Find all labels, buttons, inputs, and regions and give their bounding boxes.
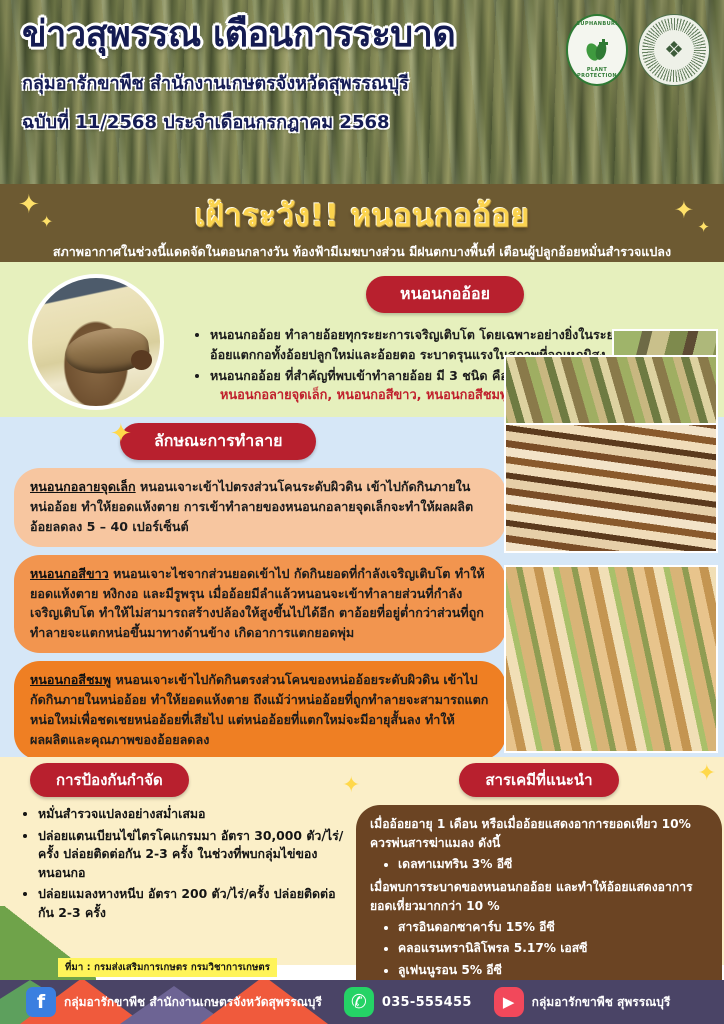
- chemicals-intro-1: เมื่ออ้อยอายุ 1 เดือน หรือเมื่ออ้อยแสดงอ…: [370, 815, 708, 853]
- chemicals-badge-wrap: สารเคมีที่แนะนำ: [356, 763, 722, 797]
- damage-box-small-spotted: หนอนกอลายจุดเล็ก หนอนเจาะเข้าไปตรงส่วนโค…: [14, 468, 506, 547]
- source-citation: ที่มา : กรมส่งเสริมการเกษตร กรมวิชาการเก…: [58, 958, 277, 977]
- damage-term: หนอนกอสีขาว: [30, 566, 109, 581]
- chemicals-column: ✦ ✦ สารเคมีที่แนะนำ เมื่ออ้อยอายุ 1 เดือ…: [356, 763, 722, 1015]
- alert-banner: ✦ ✦ ✦ ✦ เฝ้าระวัง!! หนอนกออ้อย สภาพอากาศ…: [0, 184, 724, 262]
- leaf-cross-icon: [582, 35, 612, 65]
- damage-box-white-borer: หนอนกอสีขาว หนอนเจาะไชจากส่วนยอดเข้าไป ก…: [14, 555, 506, 654]
- sparkle-icon: ✦: [674, 198, 694, 222]
- list-item: สารอินดอกซาคาร์บ 15% อีซี: [398, 918, 708, 937]
- youtube-icon[interactable]: ▶: [494, 987, 524, 1017]
- garuda-seal-logo-icon: ❖: [638, 14, 710, 86]
- sparkle-icon: ✦: [697, 220, 710, 235]
- damage-section: ✦ ลักษณะการทำลาย หนอนกอลายจุดเล็ก หนอนเจ…: [0, 417, 724, 757]
- logo-group: SUPHANBURI PLANT PROTECTION ❖: [566, 14, 710, 86]
- header-subtitle: กลุ่มอารักขาพืช สำนักงานเกษตรจังหวัดสุพร…: [22, 68, 455, 97]
- list-item: คลอแรนทรานิลิโพรล 5.17% เอสซี: [398, 939, 708, 958]
- pest-name-badge: หนอนกออ้อย: [366, 276, 524, 313]
- damage-section-badge: ลักษณะการทำลาย: [120, 423, 316, 460]
- weather-advisory-text: สภาพอากาศในช่วงนี้แดดจัดในตอนกลางวัน ท้อ…: [0, 242, 724, 262]
- list-item: หมั่นสำรวจแปลงอย่างสม่ำเสมอ: [38, 805, 346, 824]
- prevention-badge-wrap: การป้องกันกำจัด: [0, 763, 352, 797]
- list-item: เดลทาเมทริน 3% อีซี: [398, 855, 708, 874]
- phone-number: 035-555455: [382, 995, 472, 1010]
- sparkle-icon: ✦: [18, 192, 40, 218]
- prevention-list: หมั่นสำรวจแปลงอย่างสม่ำเสมอ ปล่อยแตนเบีย…: [24, 805, 346, 923]
- bottom-section: การป้องกันกำจัด หมั่นสำรวจแปลงอย่างสม่ำเ…: [0, 757, 724, 965]
- list-item-label: หนอนกออ้อย ที่สำคัญที่พบเข้าทำลายอ้อย มี…: [210, 368, 508, 383]
- sparkle-icon: ✦: [40, 214, 53, 230]
- header-issue-number: ฉบับที่ 11/2568 ประจำเดือนกรกฎาคม 2568: [22, 107, 455, 136]
- header-banner: ข่าวสุพรรณ เตือนการระบาด กลุ่มอารักขาพืช…: [0, 0, 724, 184]
- sparkle-icon: ✦: [342, 773, 360, 798]
- plant-logo-bottom-text: PLANT PROTECTION: [568, 67, 626, 79]
- stalk-cross-section-photo: [504, 423, 718, 553]
- list-item: ลูเฟนนูรอน 5% อีซี: [398, 961, 708, 980]
- damage-box-pink-borer: หนอนกอสีชมพู หนอนเจาะเข้าไปกัดกินตรงส่วน…: [14, 661, 506, 760]
- chemicals-section-badge: สารเคมีที่แนะนำ: [459, 763, 618, 797]
- page-title: ข่าวสุพรรณ เตือนการระบาด: [22, 14, 455, 56]
- alert-title: เฝ้าระวัง!! หนอนกออ้อย: [0, 184, 724, 240]
- damage-term: หนอนกอลายจุดเล็ก: [30, 479, 136, 494]
- chemicals-list-1: เดลทาเมทริน 3% อีซี: [398, 855, 708, 874]
- plant-protection-logo-icon: SUPHANBURI PLANT PROTECTION: [566, 14, 628, 86]
- header-text-block: ข่าวสุพรรณ เตือนการระบาด กลุ่มอารักขาพืช…: [22, 14, 455, 136]
- infographic-poster: ข่าวสุพรรณ เตือนการระบาด กลุ่มอารักขาพืช…: [0, 0, 724, 1024]
- facebook-page-label: กลุ่มอารักขาพืช สำนักงานเกษตรจังหวัดสุพร…: [64, 993, 322, 1012]
- whatsapp-icon[interactable]: ✆: [344, 987, 374, 1017]
- facebook-icon[interactable]: f: [26, 987, 56, 1017]
- plant-logo-top-text: SUPHANBURI: [568, 21, 626, 27]
- footer-contact-row: f กลุ่มอารักขาพืช สำนักงานเกษตรจังหวัดสุ…: [0, 980, 724, 1024]
- youtube-channel-label: กลุ่มอารักขาพืช สุพรรณบุรี: [532, 993, 671, 1012]
- sparkle-icon: ✦: [110, 419, 132, 449]
- pest-badge-wrap: หนอนกออ้อย: [180, 276, 710, 313]
- list-item: ปล่อยแตนเบียนไข่ไตรโคแกรมมา อัตรา 30,000…: [38, 827, 346, 883]
- seal-core-glyph: ❖: [654, 30, 694, 70]
- larva-head: [131, 350, 153, 370]
- wilted-shoots-photo: [504, 565, 718, 753]
- chemicals-list-2: สารอินดอกซาคาร์บ 15% อีซี คลอแรนทรานิลิโ…: [398, 918, 708, 981]
- footer-bar: f กลุ่มอารักขาพืช สำนักงานเกษตรจังหวัดสุ…: [0, 980, 724, 1024]
- damage-term: หนอนกอสีชมพู: [30, 672, 111, 687]
- prevention-section-badge: การป้องกันกำจัด: [30, 763, 189, 797]
- sparkle-icon: ✦: [698, 761, 716, 786]
- larva-photo: [28, 274, 164, 410]
- prevention-column: การป้องกันกำจัด หมั่นสำรวจแปลงอย่างสม่ำเ…: [0, 763, 352, 926]
- list-item: ปล่อยแมลงหางหนีบ อัตรา 200 ตัว/ไร่/ครั้ง…: [38, 885, 346, 922]
- chemicals-intro-2: เมื่อพบการระบาดของหนอนกออ้อย และทำให้อ้อ…: [370, 878, 708, 916]
